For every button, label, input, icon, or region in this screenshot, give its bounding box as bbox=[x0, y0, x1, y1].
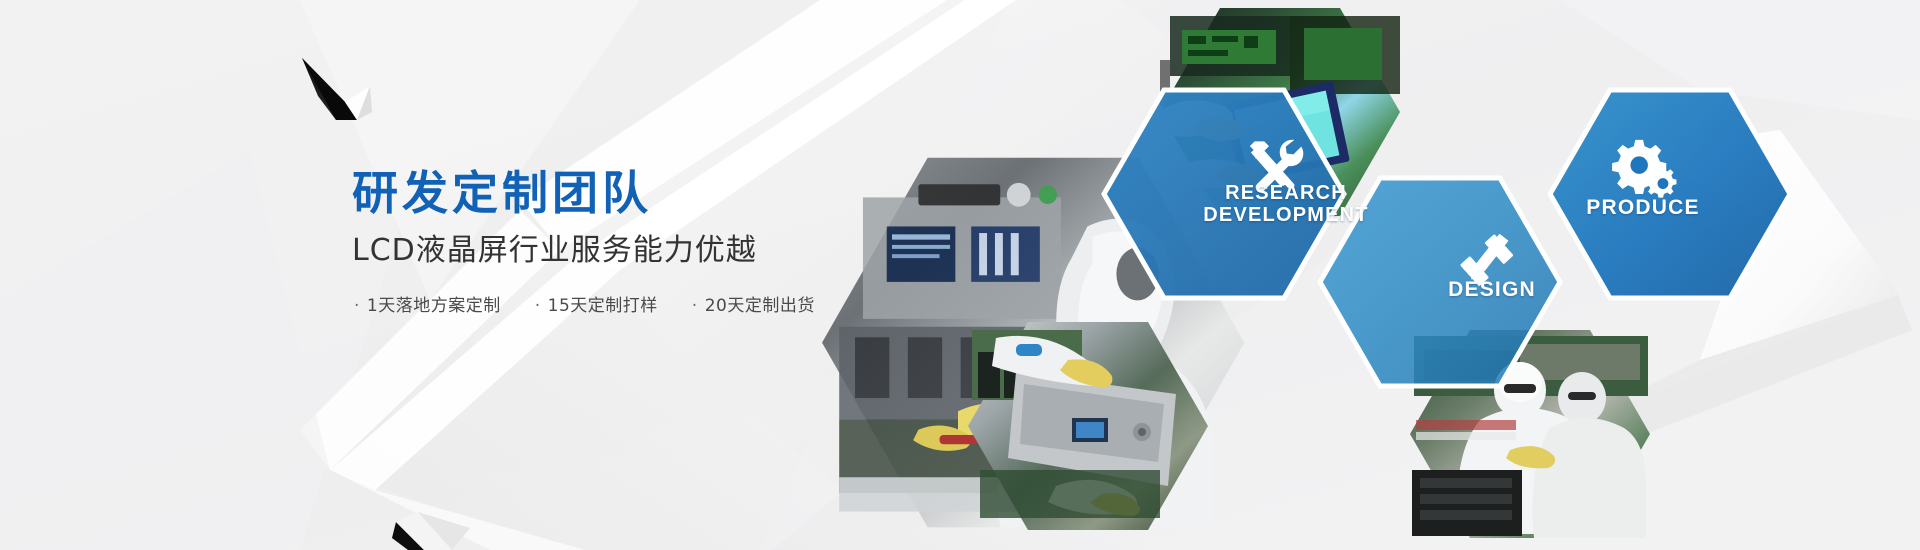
banner-copy: 研发定制团队 LCD液晶屏行业服务能力优越 ·1天落地方案定制 ·15天定制打样… bbox=[352, 168, 815, 316]
banner-headline: 研发定制团队 bbox=[352, 168, 815, 219]
bullet-item-3: ·20天定制出货 bbox=[692, 291, 815, 316]
bullet-item-1: ·1天落地方案定制 bbox=[354, 291, 501, 316]
bullet-dot-icon: · bbox=[692, 296, 698, 316]
promo-banner: 研发定制团队 LCD液晶屏行业服务能力优越 ·1天落地方案定制 ·15天定制打样… bbox=[0, 0, 1920, 550]
bullet-label: 20天定制出货 bbox=[705, 296, 815, 316]
bullet-label: 1天落地方案定制 bbox=[367, 296, 501, 316]
bullet-label: 15天定制打样 bbox=[548, 296, 658, 316]
bullet-item-2: ·15天定制打样 bbox=[535, 291, 658, 316]
banner-bullet-list: ·1天落地方案定制 ·15天定制打样 ·20天定制出货 bbox=[354, 291, 815, 316]
bullet-dot-icon: · bbox=[354, 296, 360, 316]
hexagon-cluster bbox=[820, 0, 1920, 550]
banner-subheadline: LCD液晶屏行业服务能力优越 bbox=[352, 233, 815, 269]
bullet-dot-icon: · bbox=[535, 296, 541, 316]
hex-produce[interactable] bbox=[1550, 90, 1790, 298]
